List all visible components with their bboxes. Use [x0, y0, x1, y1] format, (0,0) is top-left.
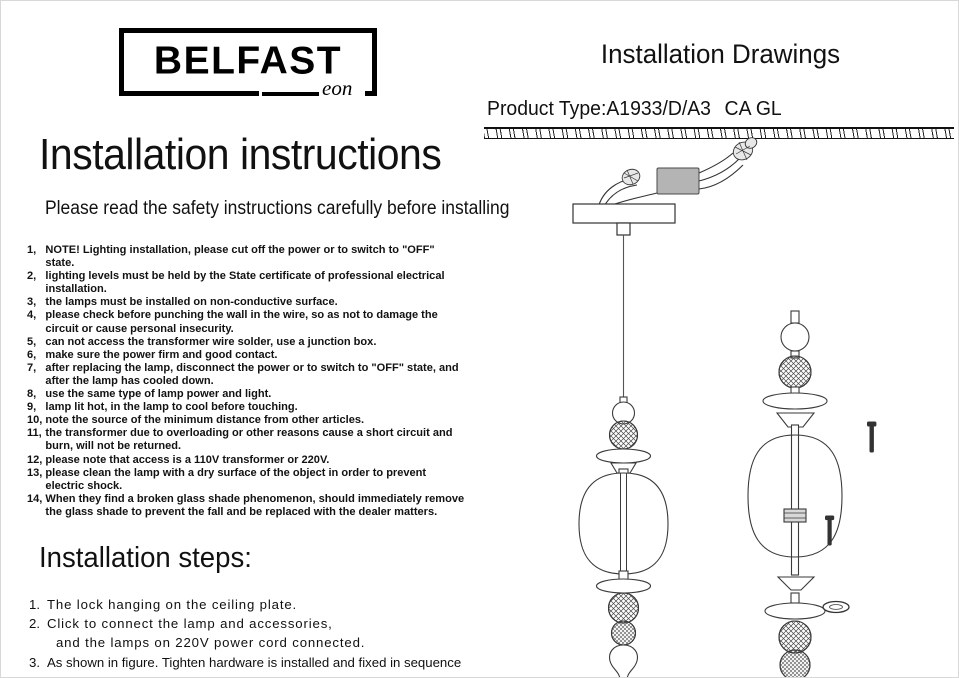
pendant-disc-top [597, 449, 651, 463]
safety-note-number: 13, [27, 467, 45, 493]
plate-connector-block [617, 223, 630, 235]
safety-note-item: 8,use the same type of lamp power and li… [27, 388, 465, 401]
ceiling-wiring-assembly [598, 153, 743, 208]
installation-steps-title: Installation steps: [39, 544, 252, 573]
page-title: Installation instructions [39, 133, 441, 177]
safety-note-number: 2, [27, 270, 45, 296]
installation-step-text: The lock hanging on the ceiling plate. [47, 595, 481, 614]
pendant-disc-bottom [597, 579, 651, 593]
installation-step-text: As shown in figure. Tighten hardware is … [47, 653, 481, 672]
safety-note-item: 9,lamp lit hot, in the lamp to cool befo… [27, 401, 465, 414]
safety-note-number: 1, [27, 244, 45, 270]
pendant-exploded-view [748, 311, 842, 678]
safety-note-item: 11,the transformer due to overloading or… [27, 427, 465, 453]
washer-ring-icon [823, 602, 849, 613]
ceiling-plate [573, 204, 675, 223]
safety-note-text: please clean the lamp with a dry surface… [45, 467, 465, 493]
safety-note-text: NOTE! Lighting installation, please cut … [45, 244, 465, 270]
safety-note-text: use the same type of lamp power and ligh… [45, 388, 465, 401]
safety-note-text: When they find a broken glass shade phen… [45, 493, 465, 519]
safety-note-number: 4, [27, 309, 45, 335]
safety-note-text: after replacing the lamp, disconnect the… [45, 362, 465, 388]
safety-note-text: can not access the transformer wire sold… [45, 336, 465, 349]
safety-note-item: 12,please note that access is a 110V tra… [27, 454, 465, 467]
pendant-assembled-view [579, 397, 668, 678]
safety-note-text: lighting levels must be held by the Stat… [45, 270, 465, 296]
installation-step-item: 2.Click to connect the lamp and accessor… [29, 614, 481, 633]
safety-note-number: 11, [27, 427, 45, 453]
logo-underline-rule [262, 92, 320, 96]
safety-note-text: the lamps must be installed on non-condu… [45, 296, 465, 309]
safety-note-text: make sure the power firm and good contac… [45, 349, 465, 362]
safety-note-item: 2,lighting levels must be held by the St… [27, 270, 465, 296]
installation-step-text: Click to connect the lamp and accessorie… [47, 614, 481, 633]
safety-note-item: 13,please clean the lamp with a dry surf… [27, 467, 465, 493]
pendant-finial [610, 645, 638, 678]
exploded-lamp-socket [784, 509, 806, 522]
installation-step-number: 2. [29, 614, 47, 633]
safety-note-number: 8, [27, 388, 45, 401]
right-panel: Installation Drawings Product Type:A1933… [481, 1, 959, 678]
safety-note-number: 14, [27, 493, 45, 519]
exploded-cup-bottom [778, 577, 814, 590]
installation-steps-list: 1.The lock hanging on the ceiling plate.… [29, 595, 481, 672]
safety-note-item: 4,please check before punching the wall … [27, 309, 465, 335]
safety-note-item: 7,after replacing the lamp, disconnect t… [27, 362, 465, 388]
safety-note-item: 5,can not access the transformer wire so… [27, 336, 465, 349]
transformer-box [657, 168, 699, 194]
screw-icon-upper [868, 422, 876, 452]
installation-instruction-sheet: BELFAST eon Installation instructions Pl… [0, 0, 959, 678]
pendant-glass-body [579, 473, 668, 574]
installation-step-continuation-text: and the lamps on 220V power cord connect… [47, 633, 481, 652]
screw-icon-lower [826, 516, 834, 545]
step-continuation-spacer [29, 633, 47, 652]
safety-note-item: 14,When they find a broken glass shade p… [27, 493, 465, 519]
safety-note-item: 6,make sure the power firm and good cont… [27, 349, 465, 362]
installation-step-number: 3. [29, 653, 47, 672]
exploded-top-stem [791, 311, 799, 323]
wire-connector-right [730, 136, 759, 164]
safety-note-text: the transformer due to overloading or ot… [45, 427, 465, 453]
safety-note-number: 5, [27, 336, 45, 349]
logo-sub-wordmark: eon [319, 78, 355, 99]
safety-note-number: 6, [27, 349, 45, 362]
safety-note-text: please note that access is a 110V transf… [45, 454, 465, 467]
brand-logo: BELFAST eon [119, 28, 381, 100]
safety-note-number: 3, [27, 296, 45, 309]
safety-note-item: 10,note the source of the minimum distan… [27, 414, 465, 427]
safety-note-number: 10, [27, 414, 45, 427]
safety-note-item: 1,NOTE! Lighting installation, please cu… [27, 244, 465, 270]
wire-connector-left [620, 167, 642, 188]
pendant-lamp-drawings [481, 1, 959, 678]
safety-note-number: 12, [27, 454, 45, 467]
safety-note-text: please check before punching the wall in… [45, 309, 465, 335]
safety-note-number: 7, [27, 362, 45, 388]
left-panel: BELFAST eon Installation instructions Pl… [1, 1, 481, 678]
installation-step-number: 1. [29, 595, 47, 614]
ceiling-plate-assembly [573, 204, 675, 235]
exploded-link-lower [791, 593, 799, 603]
installation-step-item: 3.As shown in figure. Tighten hardware i… [29, 653, 481, 672]
page-subtitle: Please read the safety instructions care… [45, 199, 509, 218]
logo-wordmark: BELFAST [119, 41, 377, 80]
safety-note-number: 9, [27, 401, 45, 414]
exploded-center-rod [792, 425, 799, 575]
safety-note-item: 3,the lamps must be installed on non-con… [27, 296, 465, 309]
exploded-disc-bottom [765, 603, 825, 619]
safety-note-text: note the source of the minimum distance … [45, 414, 465, 427]
safety-notes-list: 1,NOTE! Lighting installation, please cu… [27, 244, 479, 519]
installation-step-continuation-row: and the lamps on 220V power cord connect… [29, 633, 481, 652]
exploded-disc-top [763, 393, 827, 409]
safety-note-text: lamp lit hot, in the lamp to cool before… [45, 401, 465, 414]
exploded-top-ball [781, 323, 809, 351]
installation-step-item: 1.The lock hanging on the ceiling plate. [29, 595, 481, 614]
